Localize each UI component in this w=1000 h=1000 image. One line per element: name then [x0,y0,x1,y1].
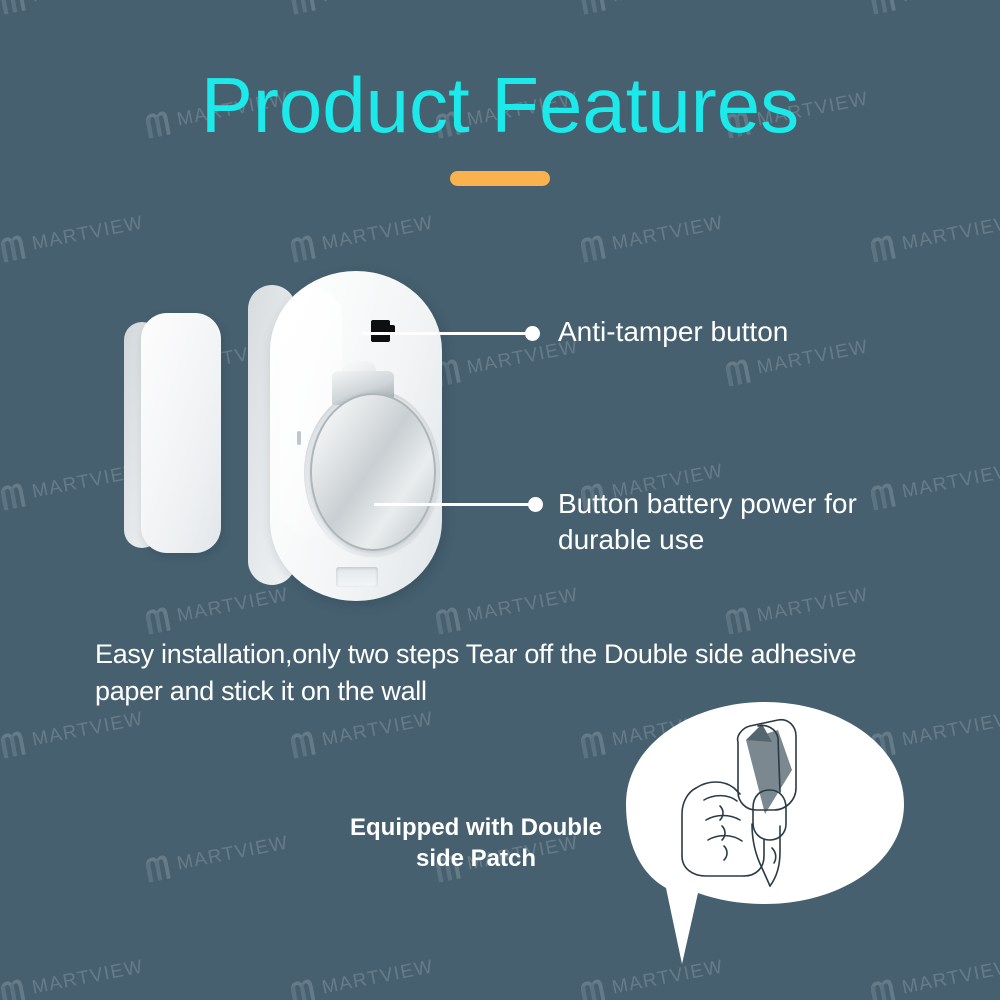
martview-m-logo-icon [288,730,317,760]
watermark-text: MARTVIEW [900,0,1000,8]
watermark: MARTVIEW [143,830,292,883]
speech-bubble-illustration [620,696,910,971]
martview-m-logo-icon [0,0,26,16]
callout-battery: Button battery power for durable use [558,486,857,558]
watermark: MARTVIEW [288,954,437,1000]
title-underline-bar [450,171,550,186]
martview-m-logo-icon [0,978,26,1000]
martview-m-logo-icon [578,978,607,1000]
watermark-text: MARTVIEW [30,956,145,999]
watermark: MARTVIEW [0,830,1,883]
patch-caption: Equipped with Double side Patch [320,812,632,874]
magnet-piece [124,313,222,553]
watermark-text: MARTVIEW [0,832,1,875]
anti-tamper-button-icon [371,320,390,342]
watermark: MARTVIEW [868,0,1000,16]
watermark-text: MARTVIEW [900,708,1000,751]
watermark-text: MARTVIEW [320,956,435,999]
watermark-text: MARTVIEW [320,0,435,8]
martview-m-logo-icon [868,978,897,1000]
watermark: MARTVIEW [0,0,146,16]
watermark-text: MARTVIEW [30,212,145,255]
magnet-front-face [141,313,221,553]
page-title: Product Features [0,62,1000,148]
callout-battery-label: Button battery power for durable use [558,486,857,558]
leader-dot-battery [528,497,543,512]
installation-note: Easy installation,only two steps Tear of… [95,636,925,710]
martview-m-logo-icon [288,0,317,16]
watermark-text: MARTVIEW [610,0,725,8]
watermark-text: MARTVIEW [900,956,1000,999]
martview-m-logo-icon [288,978,317,1000]
watermark-text: MARTVIEW [320,708,435,751]
watermark-text: MARTVIEW [610,212,725,255]
watermark: MARTVIEW [288,0,437,16]
watermark: MARTVIEW [0,954,146,1000]
martview-m-logo-icon [578,730,607,760]
product-illustration [0,255,1000,615]
led-slit [297,431,301,445]
sensor-body [270,271,442,601]
martview-m-logo-icon [578,0,607,16]
watermark-text: MARTVIEW [30,708,145,751]
watermark-text: MARTVIEW [900,212,1000,255]
watermark-text: MARTVIEW [175,832,290,875]
watermark-text: MARTVIEW [30,0,145,8]
martview-m-logo-icon [0,730,26,760]
martview-m-logo-icon [868,0,897,16]
callout-anti-tamper: Anti-tamper button [558,314,788,350]
coin-cell-battery-icon [310,393,436,551]
product-features-infographic: MARTVIEWMARTVIEWMARTVIEWMARTVIEWMARTVIEW… [0,0,1000,1000]
leader-line-anti-tamper [362,332,534,335]
watermark: MARTVIEW [578,0,727,16]
leader-dot-anti-tamper [525,326,540,341]
martview-m-logo-icon [143,854,172,884]
watermark-text: MARTVIEW [320,212,435,255]
leader-line-battery [374,503,534,506]
watermark: MARTVIEW [0,706,146,759]
header: Product Features [0,62,1000,186]
callout-anti-tamper-label: Anti-tamper button [558,314,788,350]
sensor-piece [248,271,444,601]
watermark: MARTVIEW [288,706,437,759]
base-notch [336,567,378,587]
